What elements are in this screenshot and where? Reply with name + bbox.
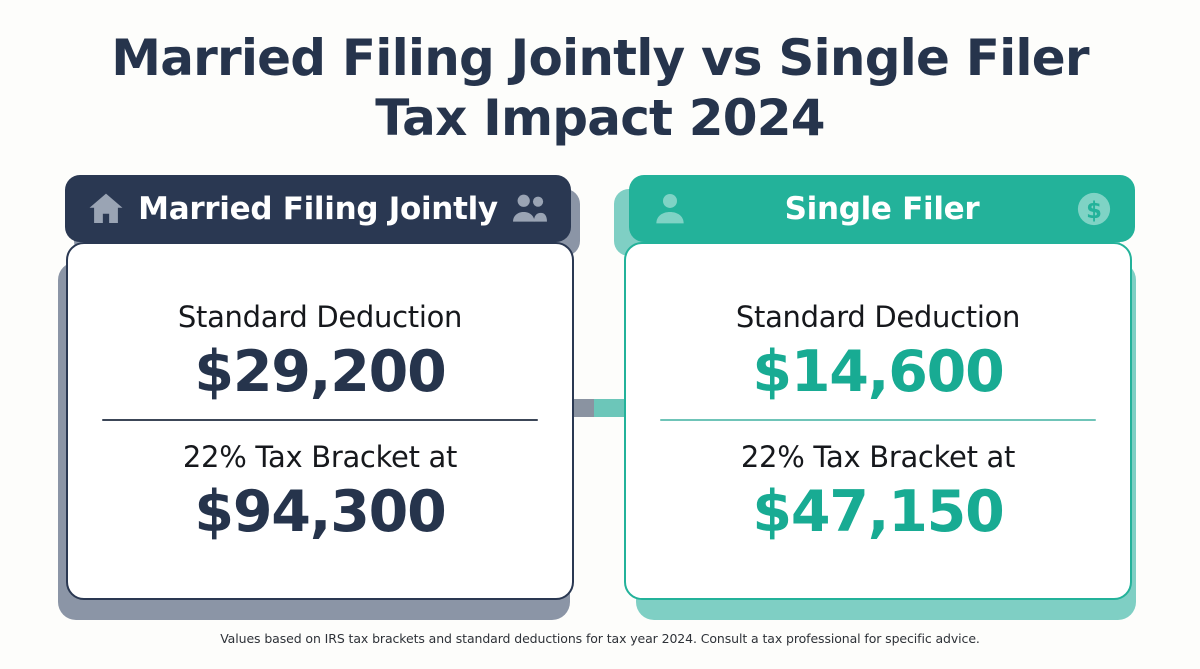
home-icon <box>85 188 127 230</box>
metric-standard-deduction-single: Standard Deduction $14,600 <box>626 297 1130 405</box>
metric-standard-deduction-married: Standard Deduction $29,200 <box>68 297 572 405</box>
card-divider-single <box>660 419 1096 421</box>
metric-label: Standard Deduction <box>650 297 1106 337</box>
header-pill-single: Single Filer $ <box>629 175 1135 242</box>
title-line-2: Tax Impact 2024 <box>0 88 1200 148</box>
metric-value: $47,150 <box>650 479 1106 545</box>
svg-text:$: $ <box>1086 197 1102 223</box>
column-single-filer: Single Filer $ Standard Deduction $14,60… <box>620 175 1142 612</box>
card-divider-married <box>102 419 538 421</box>
people-couple-icon <box>509 188 551 230</box>
metric-label: 22% Tax Bracket at <box>92 437 548 477</box>
infographic-root: Married Filing Jointly vs Single Filer T… <box>0 0 1200 669</box>
card-wrap-single: Standard Deduction $14,600 22% Tax Brack… <box>620 242 1142 612</box>
person-icon <box>649 188 691 230</box>
metric-label: 22% Tax Bracket at <box>650 437 1106 477</box>
header-pill-wrap-single: Single Filer $ <box>620 175 1142 242</box>
metric-value: $14,600 <box>650 339 1106 405</box>
column-married-filing-jointly: Married Filing Jointly Standard Deductio… <box>58 175 580 612</box>
metric-value: $29,200 <box>92 339 548 405</box>
footer-disclaimer: Values based on IRS tax brackets and sta… <box>0 631 1200 646</box>
card-wrap-married: Standard Deduction $29,200 22% Tax Brack… <box>58 242 580 612</box>
title-line-1: Married Filing Jointly vs Single Filer <box>0 28 1200 88</box>
metric-label: Standard Deduction <box>92 297 548 337</box>
metric-tax-bracket-married: 22% Tax Bracket at $94,300 <box>68 437 572 545</box>
card-single-filer: Standard Deduction $14,600 22% Tax Brack… <box>624 242 1132 600</box>
page-title: Married Filing Jointly vs Single Filer T… <box>0 28 1200 148</box>
header-label-single: Single Filer <box>691 191 1073 227</box>
metric-tax-bracket-single: 22% Tax Bracket at $47,150 <box>626 437 1130 545</box>
dollar-circle-icon: $ <box>1073 188 1115 230</box>
header-pill-married: Married Filing Jointly <box>65 175 571 242</box>
header-pill-wrap-married: Married Filing Jointly <box>58 175 580 242</box>
header-label-married: Married Filing Jointly <box>127 191 509 227</box>
metric-value: $94,300 <box>92 479 548 545</box>
card-married-filing-jointly: Standard Deduction $29,200 22% Tax Brack… <box>66 242 574 600</box>
